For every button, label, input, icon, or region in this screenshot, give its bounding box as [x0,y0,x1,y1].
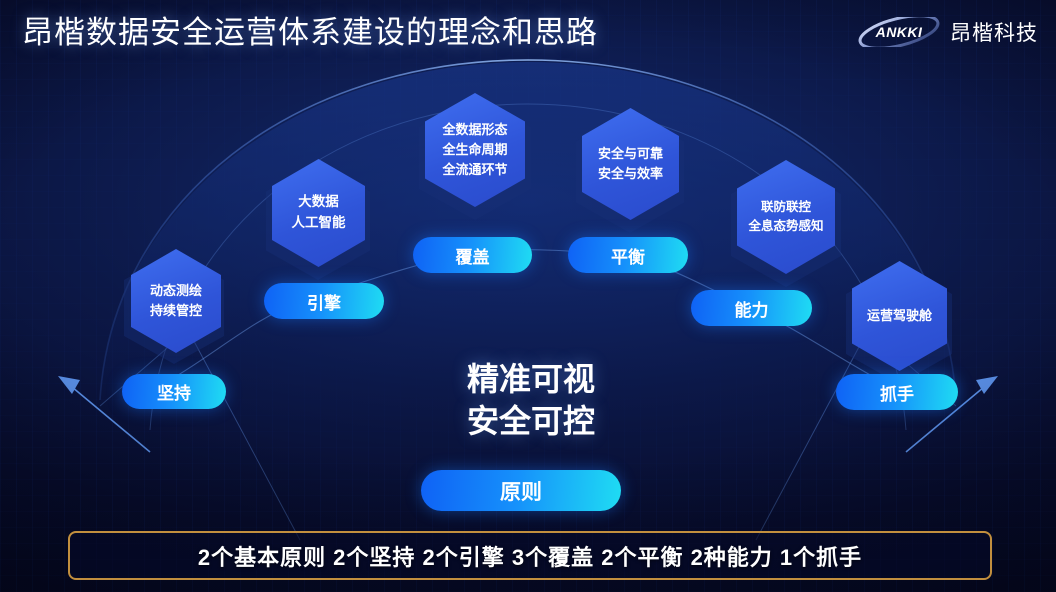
hex-line: 大数据 [298,192,339,213]
pill-handle[interactable]: 抓手 [836,374,958,410]
summary-banner-text: 2个基本原则 2个坚持 2个引擎 3个覆盖 2个平衡 2种能力 1个抓手 [198,540,862,572]
svg-text:ANKKI: ANKKI [875,24,923,40]
summary-banner: 2个基本原则 2个坚持 2个引擎 3个覆盖 2个平衡 2种能力 1个抓手 [68,531,992,580]
hex-line: 动态测绘 [150,281,202,301]
slogan-line-2: 安全可控 [421,400,641,442]
slide-canvas: 昂楷数据安全运营体系建设的理念和思路 ANKKI 昂楷科技 [0,0,1056,592]
pill-engine[interactable]: 引擎 [264,283,384,319]
hex-line: 持续管控 [150,301,202,321]
hex-line: 安全与可靠 [598,144,663,164]
ankki-logo-icon: ANKKI [858,17,940,47]
hex-line: 全数据形态 [442,120,507,140]
hex-line: 安全与效率 [598,164,663,184]
hex-line: 全流通环节 [442,160,507,180]
hex-line: 人工智能 [292,213,346,234]
slogan-line-1: 精准可视 [421,358,641,400]
pill-principle[interactable]: 原则 [421,470,621,511]
pill-coverage[interactable]: 覆盖 [413,237,532,273]
page-title: 昂楷数据安全运营体系建设的理念和思路 [22,12,598,54]
brand-name: 昂楷科技 [950,17,1038,47]
hex-line: 全生命周期 [442,140,507,160]
hex-line: 运营驾驶舱 [867,306,932,326]
center-slogan: 精准可视 安全可控 [421,358,641,442]
hex-line: 全息态势感知 [748,217,823,236]
pill-persist[interactable]: 坚持 [122,374,226,409]
hex-line: 联防联控 [761,198,811,217]
pill-balance[interactable]: 平衡 [568,237,688,273]
slide-header: 昂楷数据安全运营体系建设的理念和思路 ANKKI 昂楷科技 [0,0,1056,66]
pill-capability[interactable]: 能力 [691,290,812,326]
brand-logo: ANKKI 昂楷科技 [858,17,1038,47]
